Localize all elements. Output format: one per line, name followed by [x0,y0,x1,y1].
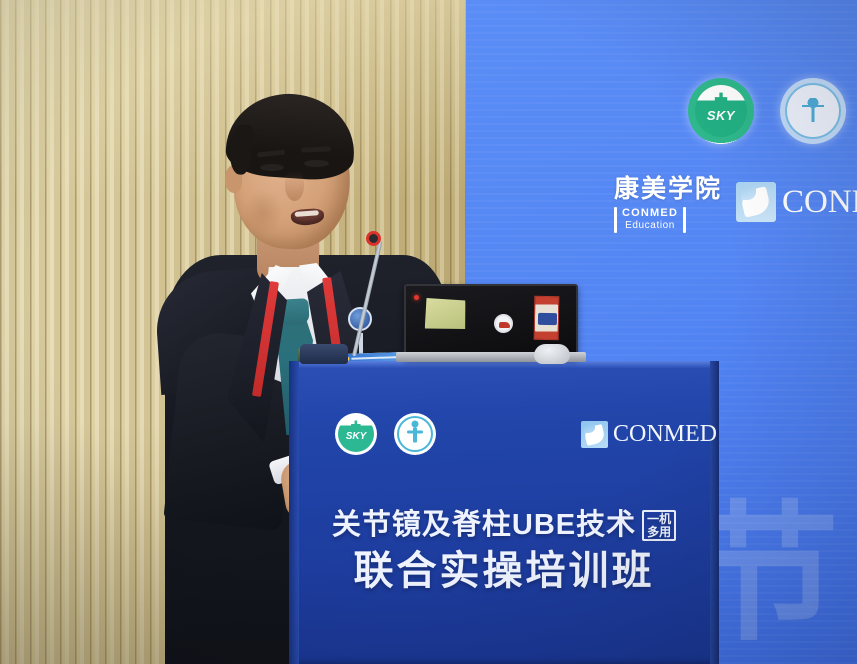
eye-left [260,164,284,171]
event-title-line-1-text: 关节镜及脊柱UBE技术 [332,509,636,542]
medical-cross-icon: ✚ [351,419,362,432]
sky-emblem-text: SKY [335,431,377,442]
event-title-line-1: 关节镜及脊柱UBE技术 一机 多用 [289,509,719,542]
sky-hospital-emblem-icon: ✚ SKY [688,78,754,144]
face-shading [243,189,283,237]
conmed-swoosh-icon [736,182,776,222]
eye-right [304,160,329,167]
wordmark-english: CONMED Education [622,207,678,231]
laptop-sticker-yellow [423,296,467,331]
badge-line-top: 一机 [647,513,671,526]
emblem-figure-glyph [802,98,824,124]
podium-sky-hospital-emblem-icon: ✚ SKY [335,413,377,455]
microphone-head-icon [366,231,381,246]
backdrop-emblem-row: ✚ SKY [688,78,846,144]
wordmark-rule-right [683,207,686,233]
laptop-sticker-red [534,296,560,340]
wordmark-chinese: 康美学院 [614,176,722,204]
computer-mouse [534,344,570,364]
podium-event-title: 关节镜及脊柱UBE技术 一机 多用 联合实操培训班 [289,509,719,596]
emblem-figure-glyph [413,427,417,442]
podium-conmed-logo: CONMED [581,421,717,448]
badge-line-bottom: 多用 [647,526,671,539]
nose [285,171,304,201]
podium-lectern: ✚ SKY CONMED 关节镜及脊柱UBE技术 一机 多用 联合实操培训班 [289,361,719,664]
podium-logo-row: ✚ SKY CONMED [335,413,675,455]
conmed-logotype: CONMED [782,184,857,221]
conference-photo: ✚ SKY 康美学院 CONMED Education CONMED [0,0,857,664]
wordmark-rule-left [614,207,617,233]
podium-top-edge [289,361,719,368]
laptop-indicator-led [414,295,419,300]
medical-cross-icon: ✚ [713,91,730,108]
conmed-swoosh-icon [581,421,608,448]
backdrop-conmed-logo: CONMED [736,182,857,222]
microphone-base [300,344,348,364]
hair [224,90,358,183]
conmed-logotype: CONMED [613,421,717,448]
wordmark-english-primary: CONMED [622,207,678,219]
sky-emblem-text: SKY [688,108,754,123]
wordmark-english-secondary: Education [622,220,678,232]
laptop-sticker-round [494,314,513,333]
institute-emblem-icon [780,78,846,144]
podium-institute-emblem-icon [394,413,436,455]
one-machine-multi-use-badge: 一机 多用 [642,510,676,541]
wordmark-english-lockup: CONMED Education [614,207,722,233]
conmed-education-wordmark: 康美学院 CONMED Education [614,176,722,233]
event-title-line-2: 联合实操培训班 [289,548,719,595]
